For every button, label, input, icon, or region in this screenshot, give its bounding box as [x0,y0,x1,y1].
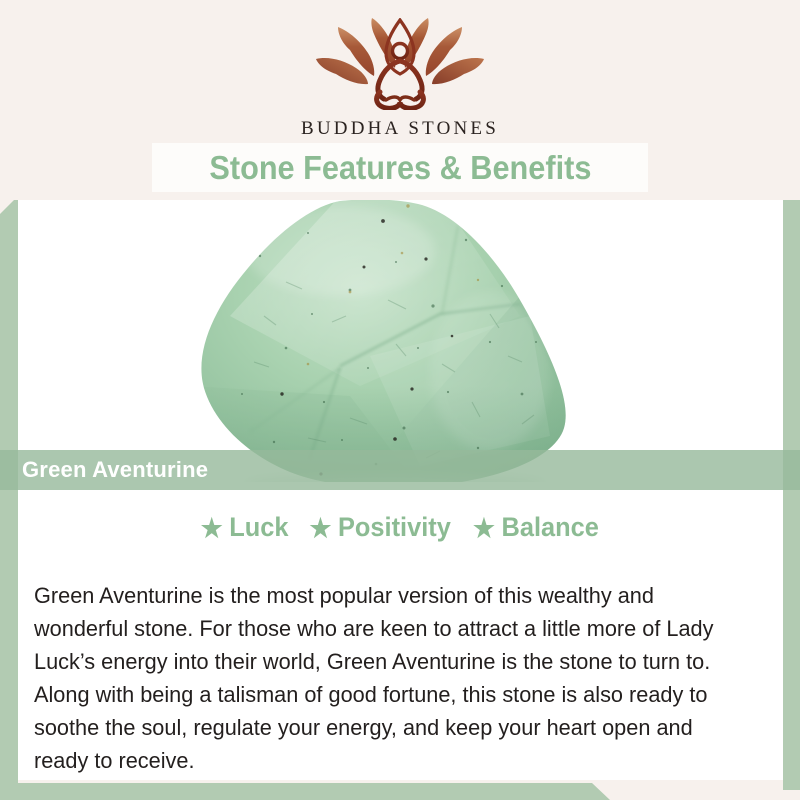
decor-bottom-bar [0,783,800,800]
star-icon: ★ [473,515,495,541]
benefit-label: Positivity [338,512,451,543]
benefit-item-luck: ★ Luck [201,512,289,543]
stone-description: Green Aventurine is the most popular ver… [34,579,750,777]
benefit-item-balance: ★ Balance [473,512,599,543]
benefit-label: Luck [229,512,288,543]
benefits-row: ★ Luck ★ Positivity ★ Balance [18,512,783,543]
green-aventurine-stone-image [190,196,590,482]
section-title-banner: Stone Features & Benefits [152,143,648,192]
benefit-label: Balance [502,512,599,543]
star-icon: ★ [310,515,332,541]
product-photo [18,192,783,482]
infographic-page: BUDDHA STONES Stone Features & Benefits … [0,0,800,800]
brand-name: BUDDHA STONES [301,118,499,140]
brand-logo: BUDDHA STONES [0,18,800,140]
stone-name-label: Green Aventurine [22,457,208,483]
page-title: Stone Features & Benefits [209,149,591,187]
decor-left-bar [0,200,18,800]
benefit-item-positivity: ★ Positivity [310,512,451,543]
lotus-meditation-logo-icon [314,18,486,115]
star-icon: ★ [201,515,223,541]
stone-name-band: Green Aventurine [0,450,800,490]
